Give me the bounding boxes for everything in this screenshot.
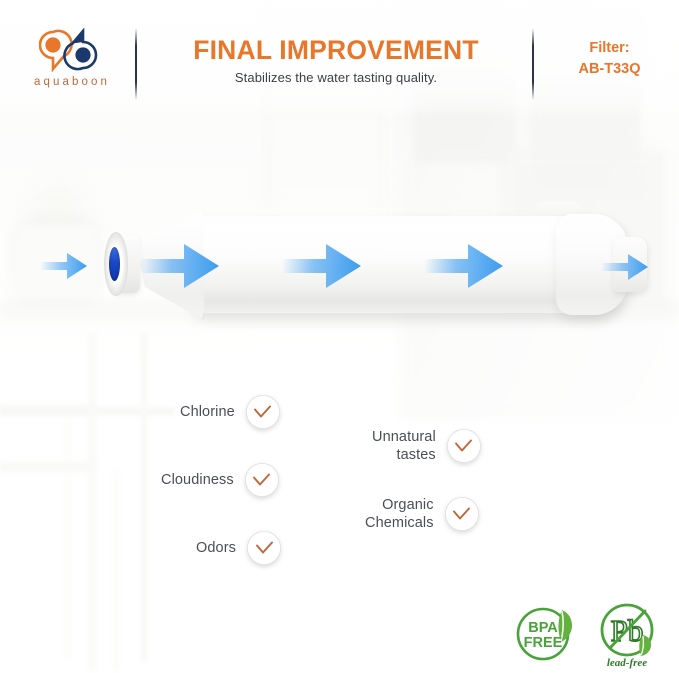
check-icon xyxy=(445,497,479,531)
brand-logo: aquaboon xyxy=(20,28,124,88)
list-item-unnatural-tastes: Unnatural tastes xyxy=(372,428,481,464)
background-table-leg xyxy=(64,412,70,662)
background-chair-leg-3 xyxy=(112,470,119,670)
filter-model-value: AB-T33Q xyxy=(540,59,679,80)
filter-label: Filter: xyxy=(540,38,679,59)
list-item-label: Chlorine xyxy=(180,403,235,421)
flow-arrow-1 xyxy=(140,241,220,291)
cartridge-highlight xyxy=(204,223,614,240)
list-item-chlorine: Chlorine xyxy=(180,395,280,429)
lead-free-badge: Pb lead-free xyxy=(594,600,666,673)
bpa-free-badge: BPA FREE xyxy=(512,600,584,671)
background-chair-rail xyxy=(0,405,92,413)
list-item-label: Cloudiness xyxy=(161,471,234,489)
brand-wordmark: aquaboon xyxy=(20,76,124,88)
header-divider-right xyxy=(532,28,534,100)
flow-arrow-inlet xyxy=(40,251,88,281)
list-item-cloudiness: Cloudiness xyxy=(161,463,279,497)
header-bar: aquaboon FINAL IMPROVEMENT Stabilizes th… xyxy=(0,0,679,118)
background-chair-leg-2 xyxy=(140,332,148,662)
check-icon xyxy=(447,429,481,463)
flow-arrow-2 xyxy=(282,241,362,291)
header-title-block: FINAL IMPROVEMENT Stabilizes the water t… xyxy=(150,36,522,85)
background-chair-seat xyxy=(0,462,95,472)
lead-free-caption-text: lead-free xyxy=(607,657,647,669)
flow-arrow-3 xyxy=(424,241,504,291)
check-icon xyxy=(245,463,279,497)
list-item-label: Unnatural tastes xyxy=(372,428,436,464)
bpa-line1-text: BPA xyxy=(528,620,558,636)
background-chair-leg-1 xyxy=(88,332,97,670)
filter-model-block: Filter: AB-T33Q xyxy=(540,38,679,80)
check-icon xyxy=(246,395,280,429)
list-item-label: Organic Chemicals xyxy=(365,496,434,532)
cartridge-inlet-port xyxy=(109,247,120,281)
page-subtitle: Stabilizes the water tasting quality. xyxy=(150,70,522,85)
aquaboon-droplet-logo-icon xyxy=(39,28,105,72)
bpa-line2-text: FREE xyxy=(524,635,563,651)
header-divider-left xyxy=(135,28,137,100)
list-item-odors: Odors xyxy=(196,531,281,565)
product-infographic: aquaboon FINAL IMPROVEMENT Stabilizes th… xyxy=(0,0,679,673)
list-item-label: Odors xyxy=(196,539,236,557)
check-icon xyxy=(247,531,281,565)
page-title: FINAL IMPROVEMENT xyxy=(150,36,522,65)
flow-arrow-outlet xyxy=(601,252,649,282)
certification-badges: BPA FREE Pb lead-free xyxy=(512,600,666,673)
list-item-organic-chemicals: Organic Chemicals xyxy=(365,496,479,532)
